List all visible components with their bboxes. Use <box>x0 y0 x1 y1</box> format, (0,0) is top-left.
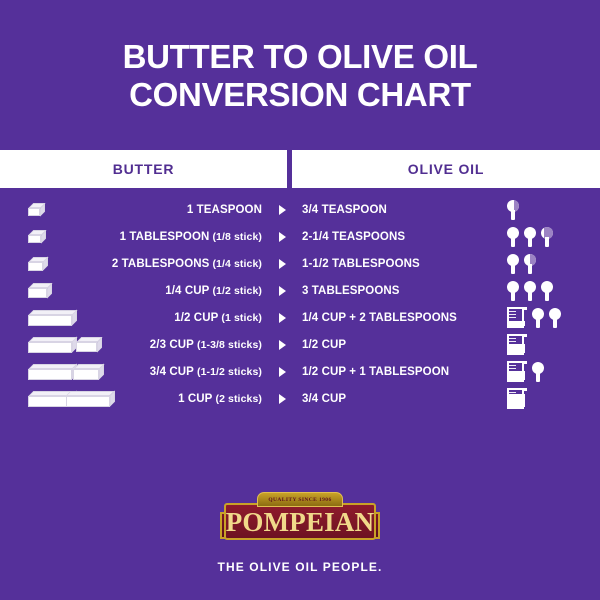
logo-wordmark: POMPEIAN <box>224 508 376 536</box>
butter-stick-icon <box>28 364 70 380</box>
conversion-arrow-icon <box>262 286 302 296</box>
conversion-arrow-icon <box>262 313 302 323</box>
olive-oil-amount-label: 1/2 CUP <box>302 339 507 351</box>
butter-amount-note: (1-1/2 sticks) <box>194 366 262 378</box>
olive-oil-amount-label: 3/4 CUP <box>302 393 507 405</box>
column-header-olive-oil: OLIVE OIL <box>292 150 600 188</box>
butter-amount-note: (1 stick) <box>218 312 262 324</box>
right-triangle-icon <box>279 340 286 350</box>
measuring-cup-icon <box>507 334 527 355</box>
butter-stick-icon <box>73 364 100 380</box>
right-triangle-icon <box>279 394 286 404</box>
conversion-arrow-icon <box>262 394 302 404</box>
title-line-2: CONVERSION CHART <box>0 76 600 114</box>
column-header-butter-label: BUTTER <box>113 161 175 177</box>
measuring-spoon-icon <box>541 227 553 247</box>
measuring-spoon-icon <box>532 308 544 328</box>
butter-amount-label: 2/3 CUP (1-3/8 sticks) <box>100 339 262 351</box>
table-row: 2 TABLESPOONS (1/4 stick)1-1/2 TABLESPOO… <box>0 250 600 277</box>
measuring-cup-icon <box>507 361 527 382</box>
olive-oil-amount-label: 3/4 TEASPOON <box>302 204 507 216</box>
butter-amount-note: (2 sticks) <box>212 393 262 405</box>
butter-icon-cell <box>0 358 100 385</box>
logo-crest: QUALITY SINCE 1906 <box>257 492 343 507</box>
butter-icon-cell <box>0 277 100 304</box>
measuring-spoon-icon <box>549 308 561 328</box>
right-triangle-icon <box>279 259 286 269</box>
butter-amount-note: (1/2 stick) <box>209 285 262 297</box>
butter-stick-icon <box>28 203 45 216</box>
column-header-olive-oil-label: OLIVE OIL <box>408 161 484 177</box>
conversion-arrow-icon <box>262 205 302 215</box>
butter-icon-cell <box>0 385 100 412</box>
butter-stick-icon <box>28 310 77 326</box>
title-line-1: BUTTER TO OLIVE OIL <box>0 38 600 76</box>
butter-stick-icon <box>28 337 73 353</box>
butter-stick-icon <box>28 230 46 243</box>
olive-oil-amount-label: 1-1/2 TABLESPOONS <box>302 258 507 270</box>
butter-amount-label: 1 TABLESPOON (1/8 stick) <box>100 231 262 243</box>
brand-logo: QUALITY SINCE 1906 POMPEIAN <box>0 492 600 553</box>
table-row: 1 TABLESPOON (1/8 stick)2-1/4 TEASPOONS <box>0 223 600 250</box>
brand-tagline: THE OLIVE OIL PEOPLE. <box>0 560 600 574</box>
butter-amount-label: 3/4 CUP (1-1/2 sticks) <box>100 366 262 378</box>
olive-oil-icon-cell <box>507 304 600 331</box>
measuring-spoon-icon <box>524 254 536 274</box>
butter-stick-icon <box>28 257 48 271</box>
measuring-spoon-icon <box>507 200 519 220</box>
butter-icon-cell <box>0 331 100 358</box>
butter-amount-note: (1-3/8 sticks) <box>194 339 262 351</box>
table-header: BUTTER OLIVE OIL <box>0 150 600 188</box>
olive-oil-icon-cell <box>507 385 600 412</box>
butter-amount-note: (1/4 stick) <box>209 258 262 270</box>
butter-icon-cell <box>0 304 100 331</box>
logo-crest-text: QUALITY SINCE 1906 <box>268 497 331 503</box>
measuring-cup-icon <box>507 388 527 409</box>
column-header-butter: BUTTER <box>0 150 287 188</box>
butter-stick-icon <box>66 391 101 407</box>
olive-oil-amount-label: 3 TABLESPOONS <box>302 285 507 297</box>
conversion-arrow-icon <box>262 340 302 350</box>
measuring-spoon-icon <box>507 281 519 301</box>
olive-oil-icon-cell <box>507 331 600 358</box>
butter-amount-label: 2 TABLESPOONS (1/4 stick) <box>100 258 262 270</box>
olive-oil-icon-cell <box>507 250 600 277</box>
olive-oil-icon-cell <box>507 223 600 250</box>
butter-amount-label: 1 CUP (2 sticks) <box>100 393 262 405</box>
butter-amount-label: 1/4 CUP (1/2 stick) <box>100 285 262 297</box>
olive-oil-amount-label: 1/2 CUP + 1 TABLESPOON <box>302 366 507 378</box>
butter-stick-icon <box>28 283 52 298</box>
table-row: 3/4 CUP (1-1/2 sticks)1/2 CUP + 1 TABLES… <box>0 358 600 385</box>
butter-icon-cell <box>0 250 100 277</box>
measuring-cup-icon <box>507 307 527 328</box>
table-row: 1 TEASPOON3/4 TEASPOON <box>0 196 600 223</box>
olive-oil-amount-label: 1/4 CUP + 2 TABLESPOONS <box>302 312 507 324</box>
table-row: 1/2 CUP (1 stick)1/4 CUP + 2 TABLESPOONS <box>0 304 600 331</box>
page-title: BUTTER TO OLIVE OIL CONVERSION CHART <box>0 0 600 114</box>
right-triangle-icon <box>279 313 286 323</box>
butter-amount-label: 1/2 CUP (1 stick) <box>100 312 262 324</box>
measuring-spoon-icon <box>524 227 536 247</box>
conversion-arrow-icon <box>262 259 302 269</box>
conversion-arrow-icon <box>262 232 302 242</box>
butter-stick-icon <box>76 337 100 352</box>
olive-oil-amount-label: 2-1/4 TEASPOONS <box>302 231 507 243</box>
measuring-spoon-icon <box>524 281 536 301</box>
olive-oil-icon-cell <box>507 196 600 223</box>
butter-amount-label: 1 TEASPOON <box>100 204 262 216</box>
measuring-spoon-icon <box>507 227 519 247</box>
right-triangle-icon <box>279 367 286 377</box>
measuring-spoon-icon <box>541 281 553 301</box>
table-row: 2/3 CUP (1-3/8 sticks)1/2 CUP <box>0 331 600 358</box>
conversion-arrow-icon <box>262 367 302 377</box>
conversion-table-body: 1 TEASPOON3/4 TEASPOON1 TABLESPOON (1/8 … <box>0 196 600 412</box>
measuring-spoon-icon <box>507 254 519 274</box>
right-triangle-icon <box>279 286 286 296</box>
right-triangle-icon <box>279 232 286 242</box>
olive-oil-icon-cell <box>507 277 600 304</box>
measuring-spoon-icon <box>532 362 544 382</box>
table-row: 1/4 CUP (1/2 stick)3 TABLESPOONS <box>0 277 600 304</box>
butter-icon-cell <box>0 196 100 223</box>
butter-icon-cell <box>0 223 100 250</box>
butter-amount-note: (1/8 stick) <box>209 231 262 243</box>
table-row: 1 CUP (2 sticks)3/4 CUP <box>0 385 600 412</box>
butter-stick-icon <box>28 391 63 407</box>
right-triangle-icon <box>279 205 286 215</box>
olive-oil-icon-cell <box>507 358 600 385</box>
